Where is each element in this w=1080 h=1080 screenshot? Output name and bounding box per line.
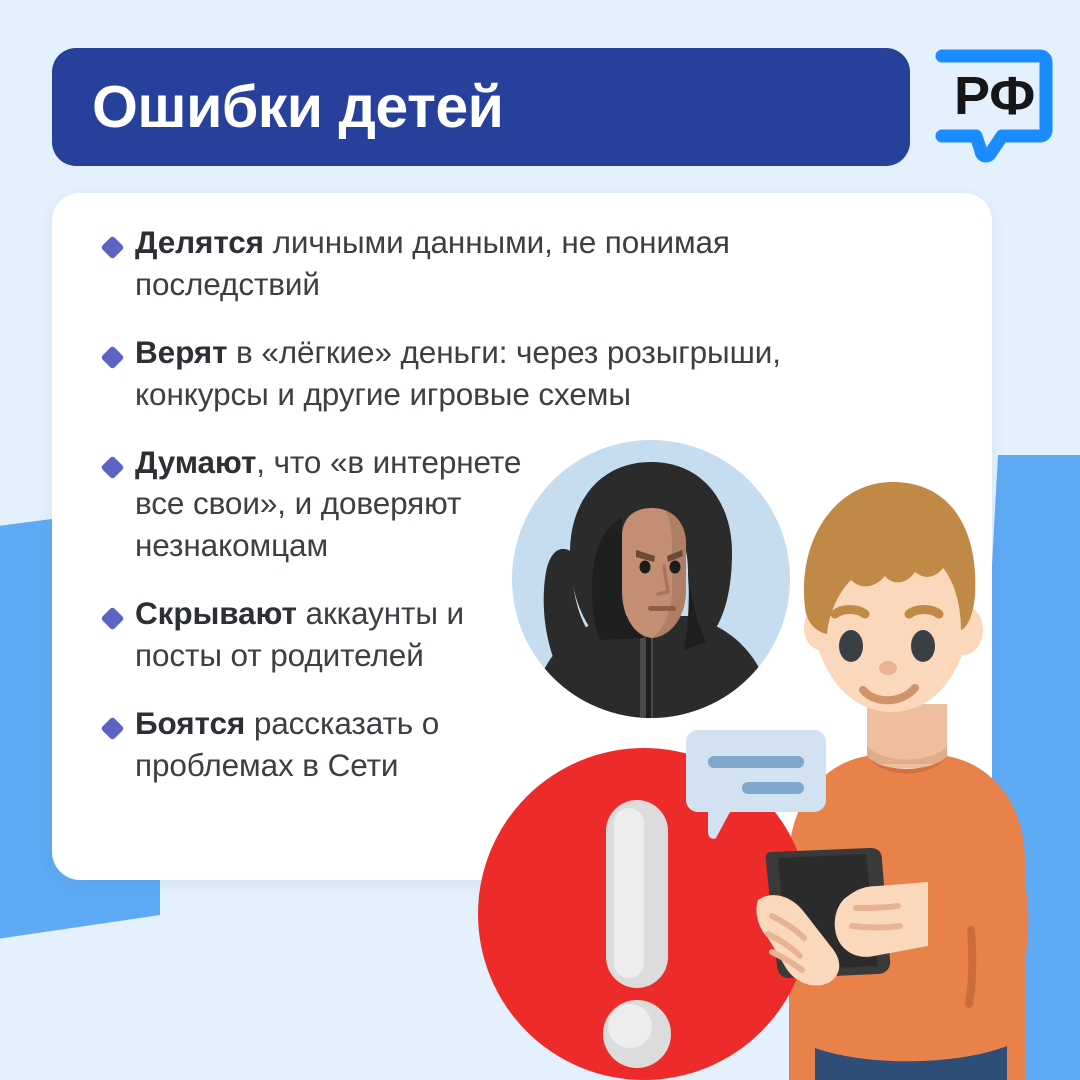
list-item-lead: Скрывают xyxy=(135,595,297,631)
list-item-text: Скрывают аккаунты и посты от родителей xyxy=(135,593,535,677)
list-item: Думают, что «в интернете все свои», и до… xyxy=(104,442,934,568)
list-item: Делятся личными данными, не понимая посл… xyxy=(104,222,934,306)
list-item-rest: в «лёгкие» деньги: через розыгрыши, конк… xyxy=(135,334,781,412)
list-item-lead: Делятся xyxy=(135,224,264,260)
list-item-text: Думают, что «в интернете все свои», и до… xyxy=(135,442,535,568)
list-item: Скрывают аккаунты и посты от родителей xyxy=(104,593,934,677)
svg-text:РФ: РФ xyxy=(954,66,1035,126)
list-item-text: Боятся рассказать о проблемах в Сети xyxy=(135,703,535,787)
rf-speech-bubble-icon: РФ xyxy=(928,44,1056,170)
diamond-bullet-icon xyxy=(100,235,124,259)
infographic-canvas: Ошибки детей РФ Делятся личными данными,… xyxy=(0,0,1080,1080)
diamond-bullet-icon xyxy=(100,345,124,369)
list-item-lead: Верят xyxy=(135,334,227,370)
list-item: Боятся рассказать о проблемах в Сети xyxy=(104,703,934,787)
list-item-text: Верят в «лёгкие» деньги: через розыгрыши… xyxy=(135,332,895,416)
list-item-lead: Боятся xyxy=(135,705,245,741)
diamond-bullet-icon xyxy=(100,607,124,631)
diamond-bullet-icon xyxy=(100,716,124,740)
list-item: Верят в «лёгкие» деньги: через розыгрыши… xyxy=(104,332,934,416)
header-banner: Ошибки детей xyxy=(52,48,910,166)
list-item-text: Делятся личными данными, не понимая посл… xyxy=(135,222,895,306)
list-item-lead: Думают xyxy=(135,444,256,480)
diamond-bullet-icon xyxy=(100,455,124,479)
rf-logo: РФ xyxy=(928,44,1056,170)
page-title: Ошибки детей xyxy=(92,78,503,137)
mistakes-list: Делятся личными данными, не понимая посл… xyxy=(104,222,934,787)
